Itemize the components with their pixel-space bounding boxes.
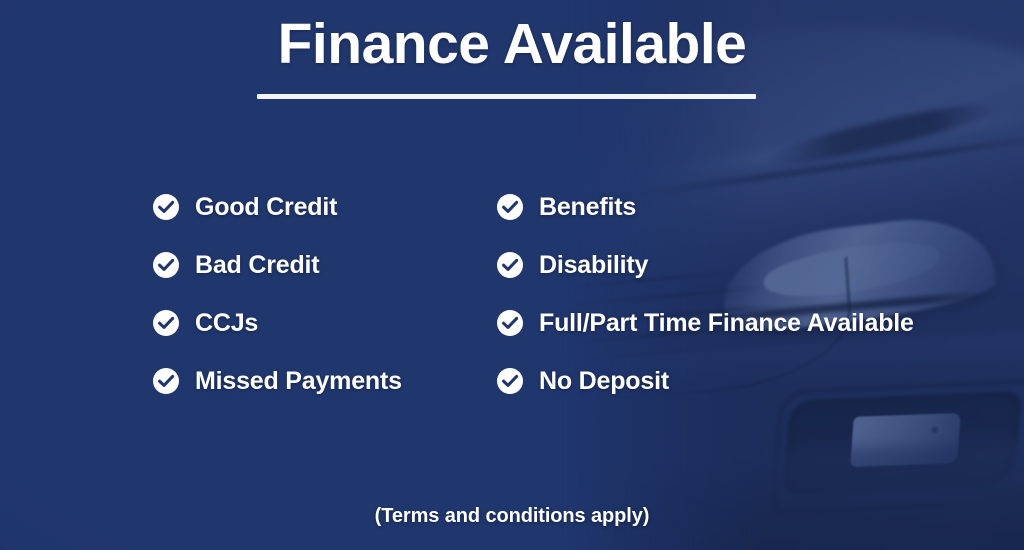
list-item-label: Full/Part Time Finance Available [539,309,914,338]
check-circle-icon [497,310,523,336]
banner-content: Finance Available Good Credit Bad C [0,0,1024,550]
list-item-label: Benefits [539,193,636,222]
list-item-label: Good Credit [195,193,337,222]
check-circle-icon [153,310,179,336]
check-circle-icon [497,194,523,220]
list-item-label: Bad Credit [195,251,319,280]
list-item: Benefits [497,178,914,236]
benefits-column-right: Benefits Disability Full/Part Time Finan… [497,178,914,410]
terms-and-conditions-note: (Terms and conditions apply) [0,505,1024,528]
list-item: Full/Part Time Finance Available [497,294,914,352]
list-item: Good Credit [153,178,402,236]
list-item-label: Missed Payments [195,367,402,396]
check-circle-icon [497,252,523,278]
list-item-label: Disability [539,251,648,280]
list-item-label: No Deposit [539,367,669,396]
list-item: No Deposit [497,352,914,410]
page-title: Finance Available [0,12,1024,78]
title-underline-rule [257,94,756,99]
list-item: Disability [497,236,914,294]
list-item: Missed Payments [153,352,402,410]
finance-available-banner: Finance Available Good Credit Bad C [0,0,1024,550]
check-circle-icon [153,194,179,220]
list-item: CCJs [153,294,402,352]
list-item-label: CCJs [195,309,258,338]
check-circle-icon [153,252,179,278]
check-circle-icon [153,368,179,394]
check-circle-icon [497,368,523,394]
benefits-column-left: Good Credit Bad Credit CCJs [153,178,402,410]
list-item: Bad Credit [153,236,402,294]
